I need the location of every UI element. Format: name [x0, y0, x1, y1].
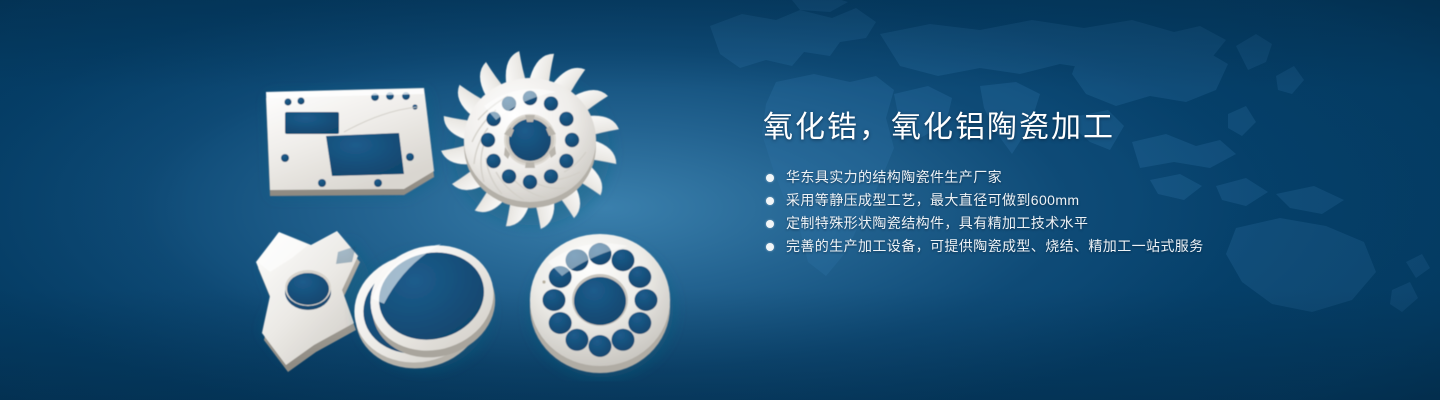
- list-item-label: 完善的生产加工设备，可提供陶瓷成型、烧结、精加工一站式服务: [786, 235, 1204, 258]
- bullet-dot-icon: [766, 174, 774, 182]
- list-item: 华东具实力的结构陶瓷件生产厂家: [763, 166, 1383, 189]
- ceramic-ring: [344, 233, 506, 380]
- ceramic-cross-plate: [256, 231, 372, 372]
- list-item-label: 采用等静压成型工艺，最大直径可做到600mm: [786, 189, 1079, 212]
- list-item-label: 定制特殊形状陶瓷结构件，具有精加工技术水平: [786, 212, 1088, 235]
- feature-list: 华东具实力的结构陶瓷件生产厂家 采用等静压成型工艺，最大直径可做到600mm 定…: [763, 166, 1383, 258]
- banner-copy: 氧化锆，氧化铝陶瓷加工 华东具实力的结构陶瓷件生产厂家 采用等静压成型工艺，最大…: [763, 108, 1383, 258]
- ceramic-impeller: [439, 49, 621, 231]
- list-item: 定制特殊形状陶瓷结构件，具有精加工技术水平: [763, 212, 1383, 235]
- bullet-dot-icon: [766, 197, 774, 205]
- hero-banner: 氧化锆，氧化铝陶瓷加工 华东具实力的结构陶瓷件生产厂家 采用等静压成型工艺，最大…: [0, 0, 1440, 400]
- list-item: 采用等静压成型工艺，最大直径可做到600mm: [763, 189, 1383, 212]
- ceramic-mounting-plate: [266, 88, 436, 196]
- list-item: 完善的生产加工设备，可提供陶瓷成型、烧结、精加工一站式服务: [763, 235, 1383, 258]
- ceramic-perforated-disc: [530, 234, 674, 378]
- ceramic-products-group: [0, 0, 720, 400]
- bullet-dot-icon: [766, 243, 774, 251]
- list-item-label: 华东具实力的结构陶瓷件生产厂家: [786, 166, 1002, 189]
- page-title: 氧化锆，氧化铝陶瓷加工: [763, 108, 1383, 148]
- bullet-dot-icon: [766, 220, 774, 228]
